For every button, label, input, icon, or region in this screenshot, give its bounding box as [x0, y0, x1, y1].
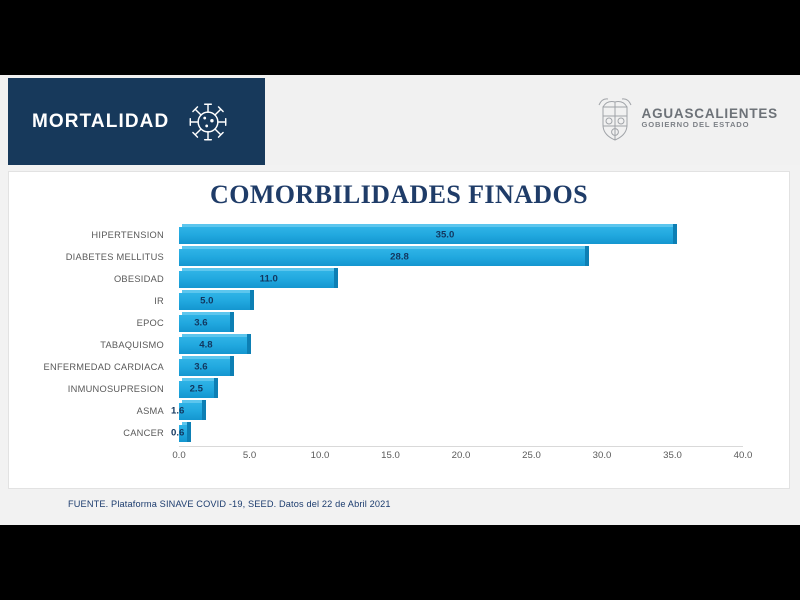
bar-value-label: 1.6 — [171, 406, 184, 417]
bar-value-label: 0.6 — [171, 428, 184, 439]
bar-side-face — [673, 224, 677, 244]
bar-row: 35.0 — [179, 224, 743, 246]
x-axis-tick-label: 5.0 — [243, 450, 256, 461]
bars-container: 35.028.811.05.03.64.83.62.51.60.6 — [179, 224, 743, 444]
bar-value-label: 4.8 — [199, 340, 212, 351]
bar-side-face — [187, 422, 191, 442]
bar-side-face — [585, 246, 589, 266]
bar-face — [179, 293, 250, 310]
coat-of-arms-icon — [597, 95, 633, 141]
bar-value-label: 28.8 — [390, 252, 409, 263]
logo-name: AGUASCALIENTES — [642, 106, 778, 122]
bar-top-face — [182, 334, 250, 337]
presentation-slide: MORTALIDAD — [0, 75, 800, 525]
x-axis-tick-label: 30.0 — [593, 450, 612, 461]
bar-value-label: 11.0 — [260, 274, 278, 285]
x-axis-tick-label: 25.0 — [522, 450, 541, 461]
state-logo: AGUASCALIENTES GOBIERNO DEL ESTADO — [597, 95, 778, 141]
bar-top-face — [182, 312, 233, 315]
x-axis-tick-label: 10.0 — [311, 450, 330, 461]
bar-face — [179, 249, 585, 266]
bar[interactable] — [179, 337, 247, 354]
y-axis-label: EPOC — [9, 312, 171, 334]
bar-row: 28.8 — [179, 246, 743, 268]
chart-title: COMORBILIDADES FINADOS — [9, 180, 789, 210]
y-axis-label: ENFERMEDAD CARDIACA — [9, 356, 171, 378]
x-axis-tick-label: 35.0 — [663, 450, 682, 461]
bar-row: 3.6 — [179, 312, 743, 334]
x-axis: 0.05.010.015.020.025.030.035.040.0 — [179, 446, 743, 466]
x-axis-tick-label: 40.0 — [734, 450, 753, 461]
bar-face — [179, 271, 334, 288]
banner-title: MORTALIDAD — [32, 111, 169, 133]
bar-side-face — [247, 334, 251, 354]
bar-top-face — [182, 378, 217, 381]
y-axis-label: TABAQUISMO — [9, 334, 171, 356]
y-axis-label: INMUNOSUPRESION — [9, 378, 171, 400]
bar-side-face — [214, 378, 218, 398]
chart-plot-area: HIPERTENSIONDIABETES MELLITUSOBESIDADIRE… — [9, 224, 791, 444]
logo-subtitle: GOBIERNO DEL ESTADO — [642, 121, 778, 130]
bar-side-face — [250, 290, 254, 310]
bar-row: 3.6 — [179, 356, 743, 378]
y-axis-label: DIABETES MELLITUS — [9, 246, 171, 268]
bar-value-label: 35.0 — [436, 230, 455, 241]
bar-row: 2.5 — [179, 378, 743, 400]
bar-side-face — [334, 268, 338, 288]
bar-value-label: 3.6 — [194, 362, 207, 373]
y-axis-label: HIPERTENSION — [9, 224, 171, 246]
bar-row: 4.8 — [179, 334, 743, 356]
y-axis-label: CANCER — [9, 422, 171, 444]
slide-header: MORTALIDAD — [0, 75, 800, 165]
x-axis-tick-label: 15.0 — [381, 450, 400, 461]
bar-value-label: 2.5 — [190, 384, 203, 395]
x-axis-tick-label: 20.0 — [452, 450, 471, 461]
mortalidad-banner: MORTALIDAD — [8, 78, 265, 165]
bar-top-face — [182, 268, 337, 271]
bar-top-face — [182, 290, 253, 293]
bar[interactable] — [179, 271, 334, 288]
y-axis-label: OBESIDAD — [9, 268, 171, 290]
bar[interactable] — [179, 249, 585, 266]
bar[interactable] — [179, 227, 673, 244]
bar-value-label: 3.6 — [194, 318, 207, 329]
bar-face — [179, 337, 247, 354]
bar-row: 0.6 — [179, 422, 743, 444]
bar-side-face — [202, 400, 206, 420]
bar[interactable] — [179, 293, 250, 310]
y-axis-label: ASMA — [9, 400, 171, 422]
screenshot-stage: MORTALIDAD — [0, 0, 800, 600]
chart-panel: COMORBILIDADES FINADOS HIPERTENSIONDIABE… — [8, 171, 790, 489]
bar-top-face — [182, 224, 676, 227]
bar-top-face — [182, 356, 233, 359]
y-axis-category-labels: HIPERTENSIONDIABETES MELLITUSOBESIDADIRE… — [9, 224, 171, 444]
bar-face — [179, 227, 673, 244]
bar-row: 11.0 — [179, 268, 743, 290]
bar-top-face — [182, 246, 588, 249]
bar-value-label: 5.0 — [200, 296, 213, 307]
source-note: FUENTE. Plataforma SINAVE COVID -19, SEE… — [68, 499, 391, 509]
bar-side-face — [230, 312, 234, 332]
y-axis-label: IR — [9, 290, 171, 312]
bar-row: 1.6 — [179, 400, 743, 422]
bar-side-face — [230, 356, 234, 376]
logo-text-block: AGUASCALIENTES GOBIERNO DEL ESTADO — [642, 106, 778, 130]
coronavirus-icon — [187, 101, 229, 143]
bar-row: 5.0 — [179, 290, 743, 312]
x-axis-tick-label: 0.0 — [172, 450, 185, 461]
x-axis-line — [179, 446, 743, 447]
